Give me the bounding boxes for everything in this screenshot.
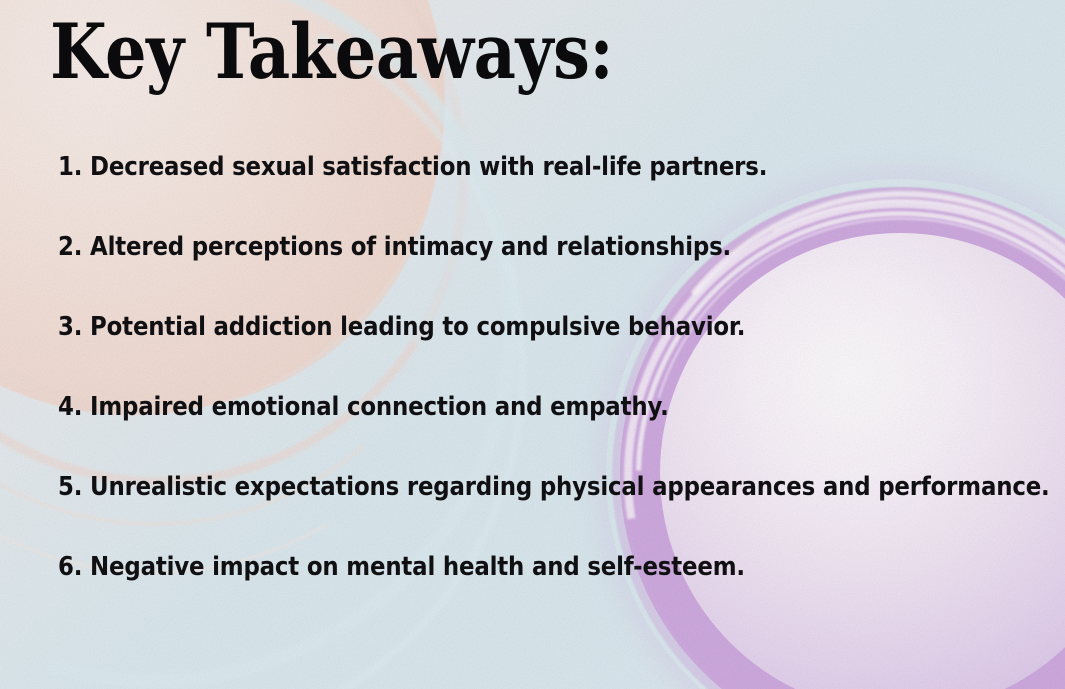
list-item: 6. Negative impact on mental health and … [58, 552, 909, 632]
list-item: 5. Unrealistic expectations regarding ph… [58, 472, 909, 552]
list-item: 4. Impaired emotional connection and emp… [58, 392, 909, 472]
list-item: 1. Decreased sexual satisfaction with re… [58, 152, 909, 232]
page-title: Key Takeaways: [50, 14, 613, 90]
slide-content: Key Takeaways: 1. Decreased sexual satis… [0, 0, 1065, 689]
list-item: 2. Altered perceptions of intimacy and r… [58, 232, 909, 312]
key-takeaways-slide: Key Takeaways: 1. Decreased sexual satis… [0, 0, 1065, 689]
takeaways-list: 1. Decreased sexual satisfaction with re… [58, 152, 1025, 632]
list-item: 3. Potential addiction leading to compul… [58, 312, 909, 392]
